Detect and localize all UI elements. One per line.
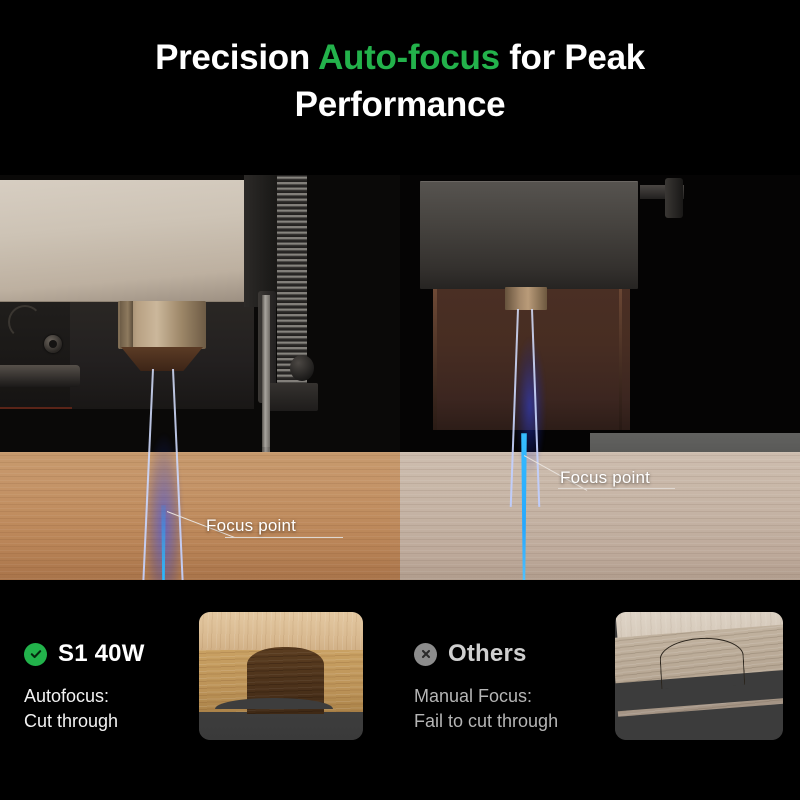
s1-title: S1 40W xyxy=(58,640,145,668)
wood-not-cut-through-sample xyxy=(615,612,783,740)
x-circle-icon xyxy=(414,643,437,666)
right-body-edge-left xyxy=(433,287,437,430)
left-knob xyxy=(290,355,314,381)
promo-page: Precision Auto-focus for Peak Performanc… xyxy=(0,0,800,800)
left-lead-screw xyxy=(277,175,307,385)
others-badge-row: Others xyxy=(414,640,527,668)
callout-underline-left xyxy=(225,537,343,538)
left-screw xyxy=(44,335,62,353)
s1-description: Autofocus: Cut through xyxy=(24,684,118,734)
left-probe-block xyxy=(268,383,318,411)
right-adjust-knob xyxy=(665,178,683,218)
comparison-item-others: Others Manual Focus: Fail to cut through xyxy=(400,580,800,800)
left-lens-ring xyxy=(120,301,133,349)
comparison-item-s1-40w: S1 40W Autofocus: Cut through xyxy=(0,580,400,800)
hero-image-band: Focus point Focus point xyxy=(0,175,800,580)
others-title: Others xyxy=(448,640,527,668)
page-title: Precision Auto-focus for Peak Performanc… xyxy=(0,34,800,128)
left-cable-loop xyxy=(8,305,42,339)
wood-board-left xyxy=(0,452,400,580)
focus-point-label-left: Focus point xyxy=(206,516,296,536)
callout-underline-right xyxy=(558,488,675,489)
others-description: Manual Focus: Fail to cut through xyxy=(414,684,558,734)
left-probe-needle xyxy=(262,295,270,453)
focus-point-label-right: Focus point xyxy=(560,468,650,488)
wood-cut-through-sample xyxy=(199,612,363,740)
left-laser-module-body xyxy=(0,180,248,302)
right-body-edge-right xyxy=(619,287,622,430)
left-red-accent-line xyxy=(0,407,72,409)
title-accent: Auto-focus xyxy=(318,38,500,77)
title-part-1: Precision xyxy=(155,38,318,77)
check-circle-icon xyxy=(24,643,47,666)
s1-badge-row: S1 40W xyxy=(24,640,145,668)
left-rail-bar xyxy=(0,365,80,387)
right-laser-head-top xyxy=(420,181,638,289)
comparison-section: S1 40W Autofocus: Cut through Others xyxy=(0,580,800,800)
